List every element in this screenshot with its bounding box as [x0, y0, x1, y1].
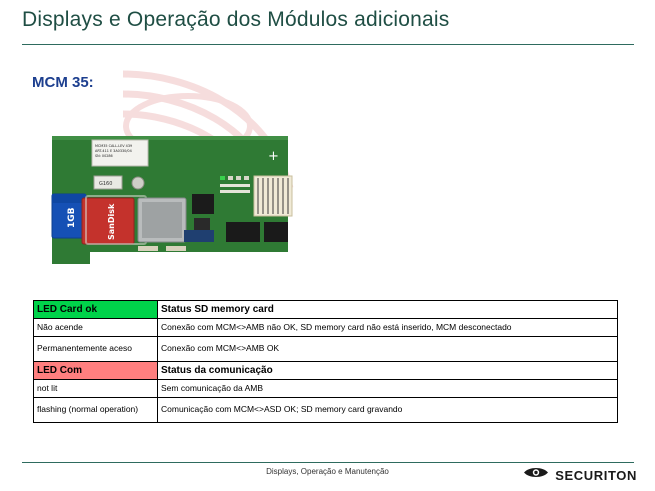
cell-permanente-aceso-desc: Conexão com MCM<>AMB OK [158, 337, 618, 362]
mcm-35-board-photo: MCM35 CALL-LEV 439 ART-411 E 3A0330/04 S… [42, 114, 300, 286]
cell-not-lit-desc: Sem comunicação da AMB [158, 380, 618, 398]
table-row: Permanentemente aceso Conexão com MCM<>A… [34, 337, 618, 362]
cell-status-sd-header: Status SD memory card [158, 301, 618, 319]
svg-text:SN: 00286: SN: 00286 [95, 154, 113, 158]
section-subtitle: MCM 35: [32, 74, 94, 91]
cell-not-lit: not lit [34, 380, 158, 398]
eye-icon [523, 466, 549, 484]
cell-led-card-ok-header: LED Card ok [34, 301, 158, 319]
cell-status-com-header: Status da comunicação [158, 362, 618, 380]
cell-nao-acende: Não acende [34, 319, 158, 337]
securiton-logo: SECURITON [523, 466, 637, 484]
table-row: LED Card ok Status SD memory card [34, 301, 618, 319]
cell-flashing: flashing (normal operation) [34, 398, 158, 423]
cell-flashing-desc: Comunicação com MCM<>ASD OK; SD memory c… [158, 398, 618, 423]
page-title: Displays e Operação dos Módulos adiciona… [22, 8, 449, 32]
svg-text:ART-411 E 3A0330/04: ART-411 E 3A0330/04 [95, 149, 132, 153]
table-row: flashing (normal operation) Comunicação … [34, 398, 618, 423]
footer-divider [22, 462, 634, 463]
svg-text:+: + [268, 149, 279, 164]
cell-nao-acende-desc: Conexão com MCM<>AMB não OK, SD memory c… [158, 319, 618, 337]
securiton-wordmark: SECURITON [555, 468, 637, 483]
led-status-table: LED Card ok Status SD memory card Não ac… [33, 300, 618, 423]
svg-text:MCM35 CALL-LEV 439: MCM35 CALL-LEV 439 [95, 144, 132, 148]
cell-permanente-aceso: Permanentemente aceso [34, 337, 158, 362]
cell-led-com-header: LED Com [34, 362, 158, 380]
table-row: LED Com Status da comunicação [34, 362, 618, 380]
table-row: Não acende Conexão com MCM<>AMB não OK, … [34, 319, 618, 337]
svg-text:SanDisk: SanDisk [107, 203, 116, 240]
svg-text:1GB: 1GB [67, 207, 77, 228]
table-row: not lit Sem comunicação da AMB [34, 380, 618, 398]
svg-text:G160: G160 [99, 181, 112, 187]
title-divider [22, 44, 634, 45]
